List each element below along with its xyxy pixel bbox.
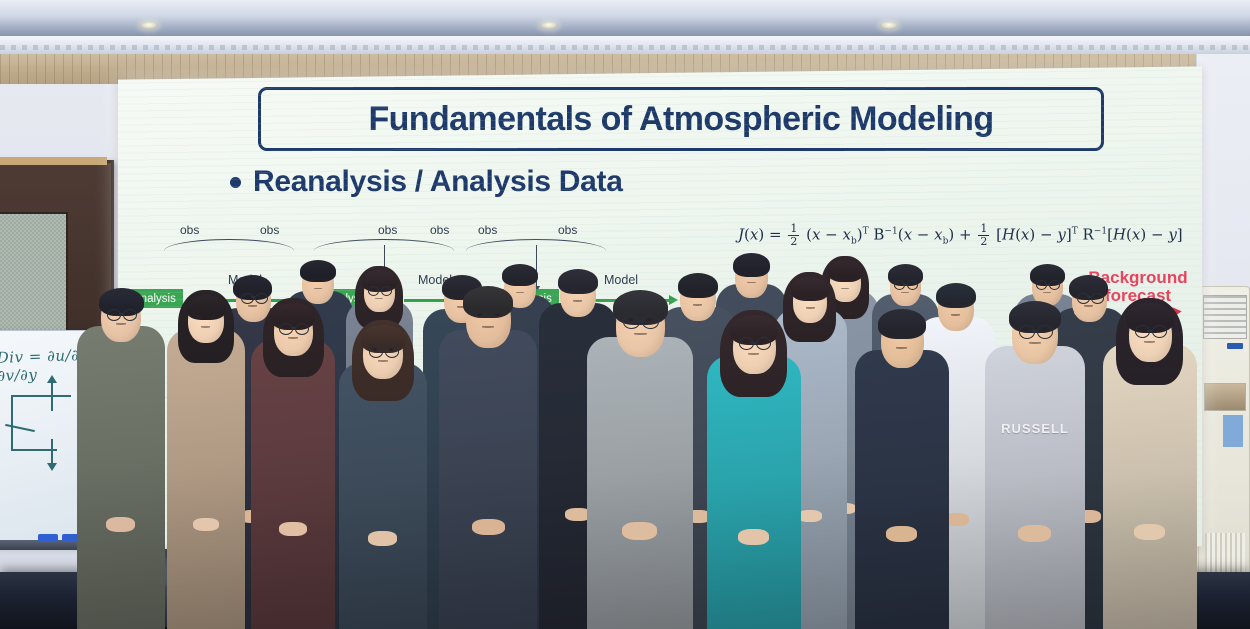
person-hair [463,286,513,318]
person-mouth [747,282,756,283]
eyeglasses [907,280,918,290]
person-mouth [951,314,960,316]
person-hands [1018,525,1051,542]
eyeglasses [107,309,121,321]
eyeglasses-bridge [381,350,386,352]
person-hair [1009,301,1061,333]
person-eye [891,334,896,337]
person-hands [106,517,135,532]
ac-display-panel [1204,383,1246,411]
person [856,306,948,629]
eyeglasses-bridge [1147,330,1152,332]
eyeglasses [123,309,137,321]
person-eye [495,313,500,316]
ac-blue-sticker [1223,415,1243,447]
obs-label: obs [378,223,397,237]
eyeglasses-bridge [291,327,296,329]
person-eye [947,303,951,305]
person-hands [1134,524,1165,540]
person-hair [361,325,406,353]
person: RUSSELL [986,298,1084,629]
person-eye [323,279,327,281]
person-hair [878,309,926,339]
eyeglasses-bridge [119,313,124,315]
person-mouth [1084,305,1093,307]
whiteboard-arrow-down-icon [51,439,53,465]
person-hands [193,518,219,531]
person-hands [886,526,917,542]
group-photo-scene: Div = ∂u/∂x + ∂v/∂y Fundamentals of Atmo… [0,0,1250,629]
eyeglasses [642,315,659,329]
eyeglasses [623,315,640,329]
person-hair [733,253,770,277]
person [588,286,692,629]
whiteboard-diagram-box [11,395,71,449]
ac-brand-logo [1227,343,1243,349]
person-eye [310,279,314,281]
eyeglasses-bridge [377,290,381,292]
slide-bullet-row: Reanalysis / Analysis Data [230,165,623,199]
cost-function-equation: J(x) = 12 (x − xb)T B−1(x − xb) + 12 [H(… [738,223,1183,248]
person-eye [801,296,805,298]
whiteboard-arrow-up-icon [51,381,53,411]
person-torso [985,346,1085,629]
eyeglasses [756,337,771,350]
person-hands [622,522,657,540]
person-eye [703,293,707,295]
eyeglasses [1019,325,1035,339]
ceiling-downlight [540,22,558,29]
person-hands [472,519,505,535]
person-mouth [378,360,388,362]
ceiling-downlight [880,22,898,29]
eyeglasses-bridge [637,320,643,322]
person-mouth [201,326,210,328]
hoodie-graphic-text: RUSSELL [986,421,1084,436]
person-eye [197,315,201,317]
obs-label: obs [430,223,449,237]
person-mouth [1029,342,1041,344]
person [1104,300,1196,629]
eyeglasses [1152,325,1167,338]
eyeglasses [369,346,383,358]
person-torso [339,363,427,629]
person-mouth [634,333,647,335]
person-hair [730,315,778,345]
ceiling [0,0,1250,40]
obs-label: obs [180,223,199,237]
person-mouth [1043,292,1051,293]
person-mouth [288,337,298,339]
person-eye [477,313,482,316]
person [78,285,164,629]
eyeglasses [381,286,392,296]
person-mouth [573,300,582,302]
eyeglasses [279,323,293,335]
person-eye [849,278,852,280]
person [252,300,334,629]
person-eye [908,334,913,337]
person-torso [1103,344,1197,629]
person-eye [756,272,760,274]
eyeglasses-bridge [1032,330,1038,332]
eyeglasses [295,323,309,335]
eyeglasses [1091,293,1104,304]
person-hair [300,260,336,282]
person-torso [77,326,165,629]
person-torso [251,340,335,629]
person-hair [936,283,976,308]
person-mouth [693,304,702,306]
person-eye [743,272,747,274]
person-hair [186,295,226,320]
slide-title-box: Fundamentals of Atmospheric Modeling [258,87,1104,151]
person-torso [167,329,245,629]
person-eye [583,289,587,291]
slide-bullet-text: Reanalysis / Analysis Data [253,165,623,199]
person [340,322,426,629]
person-hair [791,277,829,301]
obs-label: obs [558,223,577,237]
person-hands [279,522,307,536]
obs-brace [164,239,294,252]
crown-molding [0,36,1250,55]
person-hands [798,510,822,522]
person-mouth [116,323,126,325]
person-torso [855,350,949,629]
person [440,283,536,629]
eyeglasses-bridge [251,296,255,298]
person-mouth [748,353,759,355]
air-conditioner-unit [1198,286,1250,618]
obs-label: obs [478,223,497,237]
ceiling-downlight [140,22,158,29]
whiteboard-marker [38,534,58,542]
person-eye [211,315,215,317]
eyeglasses-bridge [1087,296,1091,298]
person-mouth [896,347,907,349]
person-hair [1126,303,1174,333]
obs-label: obs [260,223,279,237]
person-eye [815,296,819,298]
eyeglasses [385,346,399,358]
ac-grille [1203,295,1247,339]
person-torso [439,330,537,629]
whiteboard-baseline [11,449,57,451]
eyeglasses-bridge [1045,284,1049,286]
eyeglasses-bridge [751,342,756,344]
person-mouth [482,326,494,328]
slide-title: Fundamentals of Atmospheric Modeling [368,100,993,139]
eyeglasses [1037,325,1053,339]
obs-brace [314,239,454,252]
person-eye [961,303,965,305]
person-mouth [1144,341,1155,343]
person-mouth [806,307,815,309]
bullet-dot-icon [230,177,241,188]
person-torso [587,337,693,629]
person [168,292,244,629]
person-hands [368,531,397,546]
obs-brace [466,239,606,252]
person [708,312,800,629]
person-hands [738,529,769,545]
person-eye [569,289,573,291]
person-hair [99,288,144,316]
eyeglasses-bridge [903,284,907,286]
